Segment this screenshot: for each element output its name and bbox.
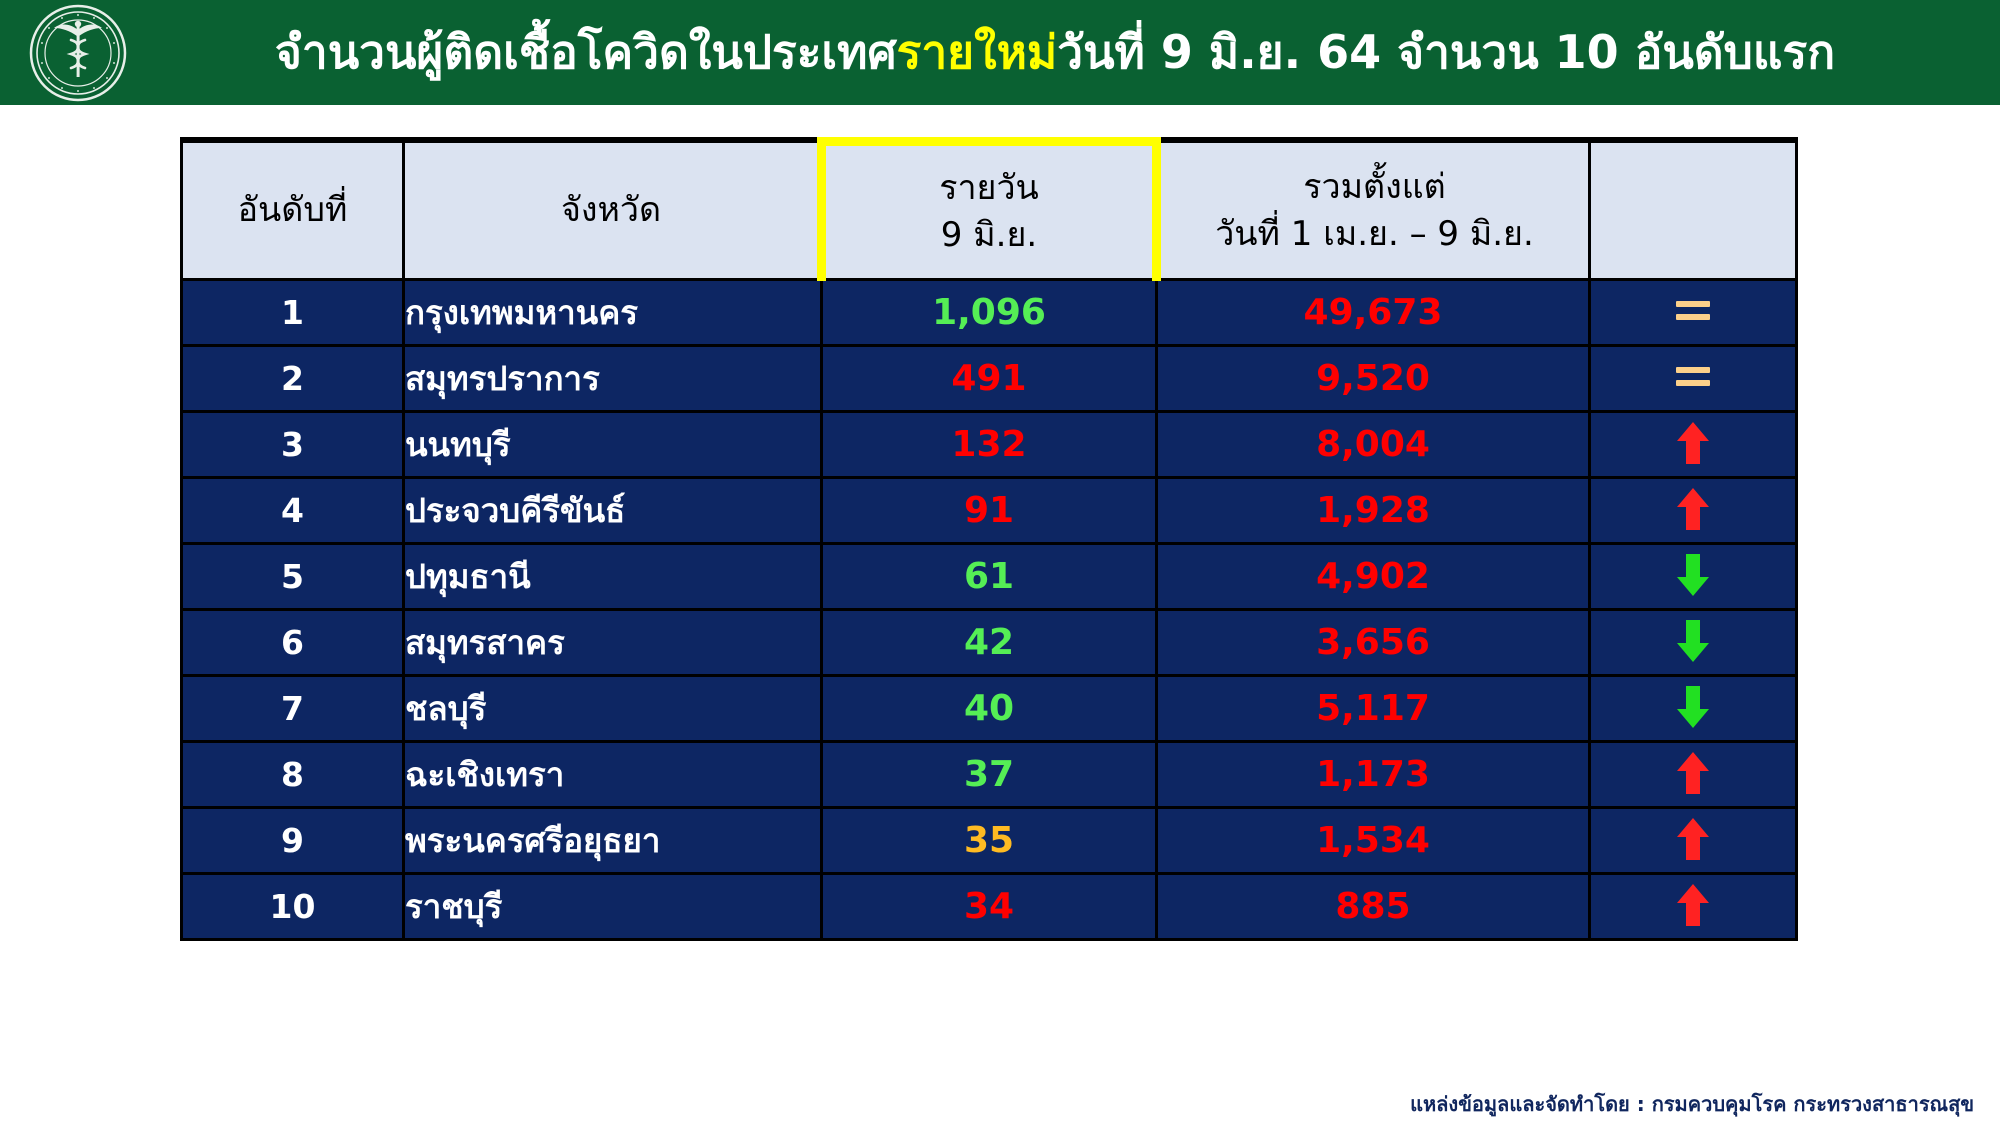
- table-row: 9พระนครศรีอยุธยา351,534: [182, 808, 1797, 874]
- trend-arrow-up-icon: [1676, 487, 1710, 531]
- cell-province: ประจวบคีรีขันธ์: [404, 478, 822, 544]
- table-row: 5ปทุมธานี614,902: [182, 544, 1797, 610]
- cell-trend: [1590, 478, 1797, 544]
- cell-province: ชลบุรี: [404, 676, 822, 742]
- title-suffix: วันที่ 9 มิ.ย. 64 จำนวน 10 อันดับแรก: [1057, 16, 1835, 89]
- page-title: จำนวนผู้ติดเชื้อโควิดในประเทศรายใหม่ วัน…: [150, 0, 1960, 105]
- header-cumulative-line1: รวมตั้งแต่: [1161, 164, 1588, 211]
- trend-equal-icon: [1676, 301, 1710, 320]
- cell-cumulative-count: 1,173: [1157, 742, 1590, 808]
- cell-rank: 7: [182, 676, 404, 742]
- cell-daily-count: 37: [822, 742, 1157, 808]
- table-body: 1กรุงเทพมหานคร1,09649,6732สมุทรปราการ491…: [182, 280, 1797, 940]
- title-highlight: รายใหม่: [897, 16, 1058, 89]
- cell-trend: [1590, 676, 1797, 742]
- trend-arrow-down-icon: [1676, 619, 1710, 663]
- header-cumulative: รวมตั้งแต่ วันที่ 1 เม.ย. – 9 มิ.ย.: [1157, 142, 1590, 280]
- table-row: 2สมุทรปราการ4919,520: [182, 346, 1797, 412]
- cell-rank: 2: [182, 346, 404, 412]
- cell-rank: 4: [182, 478, 404, 544]
- cell-daily-count: 40: [822, 676, 1157, 742]
- table-row: 8ฉะเชิงเทรา371,173: [182, 742, 1797, 808]
- ministry-of-public-health-seal-icon: [22, 2, 134, 104]
- cell-rank: 9: [182, 808, 404, 874]
- cell-province: สมุทรปราการ: [404, 346, 822, 412]
- cell-cumulative-count: 885: [1157, 874, 1590, 940]
- cell-rank: 10: [182, 874, 404, 940]
- trend-arrow-up-icon: [1676, 751, 1710, 795]
- table-row: 4ประจวบคีรีขันธ์911,928: [182, 478, 1797, 544]
- trend-equal-icon: [1676, 367, 1710, 386]
- title-prefix: จำนวนผู้ติดเชื้อโควิดในประเทศ: [275, 16, 897, 89]
- cell-daily-count: 91: [822, 478, 1157, 544]
- top10-table-container: อันดับที่ จังหวัด รายวัน 9 มิ.ย. รวมตั้ง…: [180, 137, 1795, 941]
- cell-cumulative-count: 9,520: [1157, 346, 1590, 412]
- header-province: จังหวัด: [404, 142, 822, 280]
- trend-arrow-down-icon: [1676, 553, 1710, 597]
- cell-cumulative-count: 8,004: [1157, 412, 1590, 478]
- table-row: 10ราชบุรี34885: [182, 874, 1797, 940]
- cell-daily-count: 1,096: [822, 280, 1157, 346]
- cell-daily-count: 491: [822, 346, 1157, 412]
- cell-rank: 8: [182, 742, 404, 808]
- cell-province: ราชบุรี: [404, 874, 822, 940]
- cell-province: นนทบุรี: [404, 412, 822, 478]
- cell-trend: [1590, 742, 1797, 808]
- header-banner: จำนวนผู้ติดเชื้อโควิดในประเทศรายใหม่ วัน…: [0, 0, 2000, 105]
- cell-province: ฉะเชิงเทรา: [404, 742, 822, 808]
- header-cumulative-line2: วันที่ 1 เม.ย. – 9 มิ.ย.: [1161, 211, 1588, 258]
- source-note: แหล่งข้อมูลและจัดทำโดย : กรมควบคุมโรค กร…: [1410, 1088, 1974, 1120]
- cell-cumulative-count: 1,928: [1157, 478, 1590, 544]
- table-header: อันดับที่ จังหวัด รายวัน 9 มิ.ย. รวมตั้ง…: [182, 142, 1797, 280]
- cell-cumulative-count: 1,534: [1157, 808, 1590, 874]
- cell-cumulative-count: 4,902: [1157, 544, 1590, 610]
- cell-rank: 6: [182, 610, 404, 676]
- trend-arrow-up-icon: [1676, 421, 1710, 465]
- table-header-row: อันดับที่ จังหวัด รายวัน 9 มิ.ย. รวมตั้ง…: [182, 142, 1797, 280]
- cell-daily-count: 61: [822, 544, 1157, 610]
- table-row: 6สมุทรสาคร423,656: [182, 610, 1797, 676]
- header-rank: อันดับที่: [182, 142, 404, 280]
- cell-daily-count: 35: [822, 808, 1157, 874]
- cell-trend: [1590, 808, 1797, 874]
- table-row: 7ชลบุรี405,117: [182, 676, 1797, 742]
- table-row: 1กรุงเทพมหานคร1,09649,673: [182, 280, 1797, 346]
- cell-daily-count: 34: [822, 874, 1157, 940]
- cell-province: สมุทรสาคร: [404, 610, 822, 676]
- cell-trend: [1590, 346, 1797, 412]
- cell-cumulative-count: 5,117: [1157, 676, 1590, 742]
- header-daily-line2: 9 มิ.ย.: [826, 212, 1152, 259]
- cell-trend: [1590, 610, 1797, 676]
- cell-trend: [1590, 280, 1797, 346]
- top10-provinces-table: อันดับที่ จังหวัด รายวัน 9 มิ.ย. รวมตั้ง…: [180, 137, 1798, 941]
- header-daily: รายวัน 9 มิ.ย.: [822, 142, 1157, 280]
- cell-rank: 1: [182, 280, 404, 346]
- cell-province: ปทุมธานี: [404, 544, 822, 610]
- cell-rank: 5: [182, 544, 404, 610]
- cell-daily-count: 132: [822, 412, 1157, 478]
- trend-arrow-up-icon: [1676, 883, 1710, 927]
- cell-trend: [1590, 544, 1797, 610]
- cell-trend: [1590, 412, 1797, 478]
- header-daily-line1: รายวัน: [826, 165, 1152, 212]
- header-trend: [1590, 142, 1797, 280]
- cell-cumulative-count: 49,673: [1157, 280, 1590, 346]
- cell-province: กรุงเทพมหานคร: [404, 280, 822, 346]
- cell-trend: [1590, 874, 1797, 940]
- cell-cumulative-count: 3,656: [1157, 610, 1590, 676]
- trend-arrow-up-icon: [1676, 817, 1710, 861]
- cell-province: พระนครศรีอยุธยา: [404, 808, 822, 874]
- table-row: 3นนทบุรี1328,004: [182, 412, 1797, 478]
- trend-arrow-down-icon: [1676, 685, 1710, 729]
- cell-daily-count: 42: [822, 610, 1157, 676]
- cell-rank: 3: [182, 412, 404, 478]
